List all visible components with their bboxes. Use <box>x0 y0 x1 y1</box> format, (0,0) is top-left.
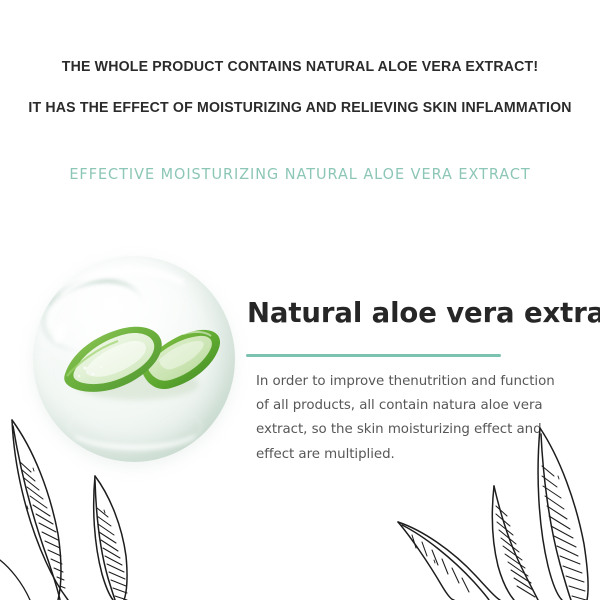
title-divider <box>246 354 501 357</box>
subheadline: EFFECTIVE MOISTURIZING NATURAL ALOE VERA… <box>21 165 579 183</box>
feature-title: Natural aloe vera extract <box>247 297 600 329</box>
headline-line-1: THE WHOLE PRODUCT CONTAINS NATURAL ALOE … <box>21 56 579 78</box>
sketched-leaves-left <box>0 410 200 600</box>
sketched-leaves-right <box>390 410 600 600</box>
headline-line-2: IT HAS THE EFFECT OF MOISTURIZING AND RE… <box>21 97 579 119</box>
poster-canvas: THE WHOLE PRODUCT CONTAINS NATURAL ALOE … <box>0 0 600 600</box>
headline-block: THE WHOLE PRODUCT CONTAINS NATURAL ALOE … <box>0 56 600 119</box>
